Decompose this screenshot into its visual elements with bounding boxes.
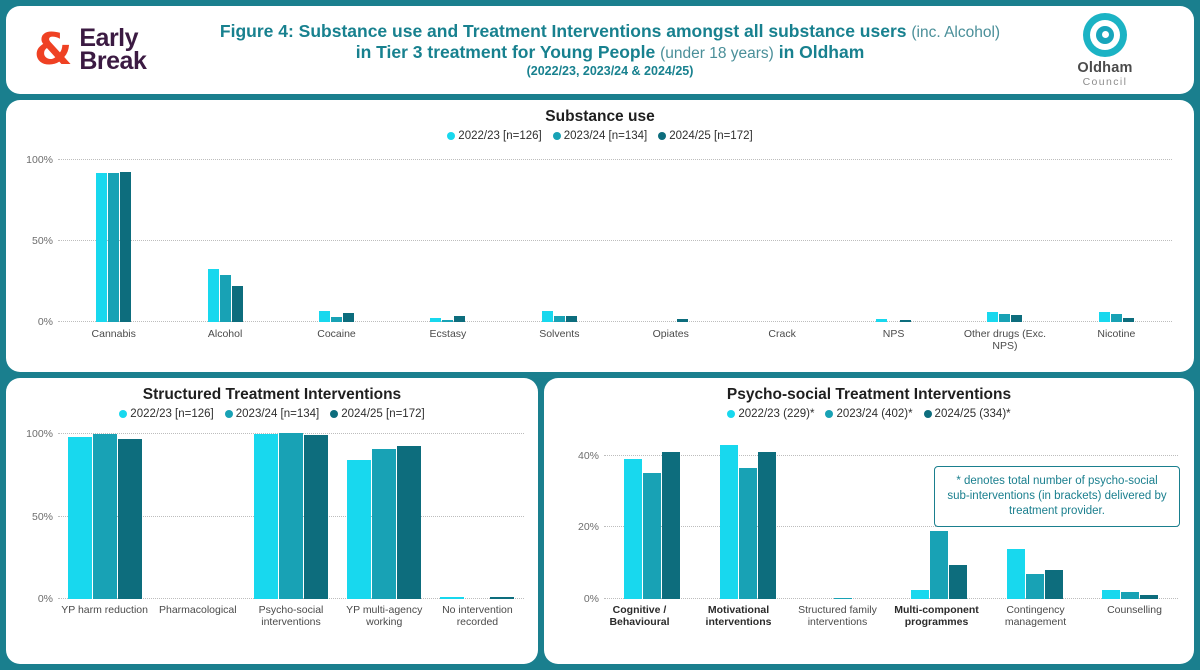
bar-groups [58,160,1172,322]
x-axis-tick-label: Pharmacological [151,604,244,628]
legend-item-0: 2022/23 (229)* [727,408,814,420]
xaxis-labels-psychosocial: Cognitive / BehaviouralMotivational inte… [590,604,1184,628]
x-axis-tick-label: YP harm reduction [58,604,151,628]
early-break-wordmark: Early Break [79,27,146,73]
bar [1026,574,1044,599]
plot-area: 0%50%100% [58,160,1172,322]
plot-area: 0%50%100% [58,434,524,599]
xaxis-labels-structured: YP harm reductionPharmacologicalPsycho-s… [58,604,524,628]
y-axis-tick-label: 0% [38,593,53,605]
bar-group [1061,160,1172,322]
bar-group [700,434,796,599]
chart-title-psychosocial: Psycho-social Treatment Interventions [544,378,1194,404]
legend-psychosocial: 2022/23 (229)*2023/24 (402)*2024/25 (334… [544,408,1194,420]
bar [1102,590,1120,599]
legend-substance-use: 2022/23 [n=126]2023/24 [n=134]2024/25 [n… [6,130,1194,142]
x-axis-tick-label: Crack [726,328,837,352]
y-axis-tick-label: 20% [578,521,599,533]
x-axis-tick-label: Structured family interventions [788,604,887,628]
bar [319,311,330,322]
bar [949,565,967,599]
x-axis-tick-label: Nicotine [1061,328,1172,352]
ampersand-icon: & [34,30,72,70]
bar [876,319,887,322]
legend-dot-icon [924,410,932,418]
bar [911,590,929,599]
chart-substance-use: 0%50%100% [58,160,1172,322]
legend-dot-icon [727,410,735,418]
bar [232,286,243,322]
page-title: Figure 4: Substance use and Treatment In… [190,21,1030,79]
bar [1123,318,1134,322]
bar [1111,314,1122,322]
oldham-council-logo: Oldham Council [1030,13,1180,88]
bar-groups [58,434,524,599]
legend-label: 2022/23 [n=126] [458,130,541,142]
legend-label: 2023/24 [n=134] [564,130,647,142]
chart-structured: 0%50%100% [58,434,524,599]
legend-label: 2024/25 [n=172] [341,408,424,420]
x-axis-tick-label: Alcohol [169,328,280,352]
bar [68,437,92,599]
y-axis-tick-label: 100% [26,428,53,440]
title-line-2-bold-b: in Oldham [779,42,865,62]
bar-group [838,160,949,322]
legend-label: 2022/23 (229)* [738,408,814,420]
y-axis-tick-label: 0% [38,316,53,328]
legend-label: 2022/23 [n=126] [130,408,213,420]
bar [758,452,776,599]
legend-item-0: 2022/23 [n=126] [119,408,213,420]
legend-dot-icon [553,132,561,140]
panel-substance-use: Substance use 2022/23 [n=126]2023/24 [n=… [6,100,1194,372]
title-line-1-bold: Figure 4: Substance use and Treatment In… [220,21,907,41]
x-axis-tick-label: Cannabis [58,328,169,352]
legend-dot-icon [658,132,666,140]
bar-group [726,160,837,322]
bar [624,459,642,599]
x-axis-tick-label: YP multi-agency working [338,604,431,628]
xaxis-labels-substance-use: CannabisAlcoholCocaineEcstasySolventsOpi… [58,328,1172,352]
bar [347,460,371,599]
legend-item-0: 2022/23 [n=126] [447,130,541,142]
legend-dot-icon [825,410,833,418]
title-line-1-soft: (inc. Alcohol) [911,24,1000,41]
legend-item-2: 2024/25 [n=172] [658,130,752,142]
y-axis-tick-label: 50% [32,511,53,523]
legend-dot-icon [119,410,127,418]
bar [987,312,998,322]
panel-structured-interventions: Structured Treatment Interventions 2022/… [6,378,538,664]
bar-group [615,160,726,322]
early-break-logo: & Early Break [20,27,190,73]
annotation-note: * denotes total number of psycho-social … [934,466,1180,527]
legend-item-1: 2023/24 [n=134] [225,408,319,420]
bar-group [169,160,280,322]
bar-group [244,434,337,599]
legend-item-2: 2024/25 [n=172] [330,408,424,420]
bar [999,314,1010,322]
bar [96,173,107,322]
bar-group [949,160,1060,322]
bar [120,172,131,322]
x-axis-tick-label: Cognitive / Behavioural [590,604,689,628]
bar [93,434,117,599]
bottom-panels-row: Structured Treatment Interventions 2022/… [6,378,1194,664]
bar-group [58,160,169,322]
bar [254,434,278,599]
bar [454,316,465,322]
bar-group [604,434,700,599]
y-axis-tick-label: 50% [32,235,53,247]
bar [834,598,852,599]
x-axis-tick-label: Multi-component programmes [887,604,986,628]
y-axis-tick-label: 40% [578,450,599,462]
bar [900,320,911,322]
x-axis-tick-label: Solvents [504,328,615,352]
bar [677,319,688,322]
bar [430,318,441,322]
bar [1045,570,1063,599]
bar [279,433,303,599]
x-axis-tick-label: Motivational interventions [689,604,788,628]
bar [643,473,661,599]
bar-group [58,434,151,599]
title-line-3: (2022/23, 2023/24 & 2024/25) [190,64,1030,79]
legend-item-2: 2024/25 (334)* [924,408,1011,420]
oldham-subtitle: Council [1083,76,1128,88]
x-axis-tick-label: Cocaine [281,328,392,352]
title-line-2-soft: (under 18 years) [660,45,774,62]
x-axis-tick-label: NPS [838,328,949,352]
title-line-1: Figure 4: Substance use and Treatment In… [190,21,1030,42]
chart-title-structured: Structured Treatment Interventions [6,378,538,404]
title-line-2-bold-a: in Tier 3 treatment for Young People [356,42,656,62]
bar [118,439,142,599]
bar [442,320,453,322]
bar [566,316,577,322]
title-line-2: in Tier 3 treatment for Young People (un… [190,42,1030,63]
legend-item-1: 2023/24 (402)* [825,408,912,420]
bar [1099,312,1110,322]
legend-structured: 2022/23 [n=126]2023/24 [n=134]2024/25 [n… [6,408,538,420]
bar [397,446,421,599]
bar-group [431,434,524,599]
bar [930,531,948,599]
bar [1011,315,1022,322]
y-axis-tick-label: 100% [26,154,53,166]
bar [220,275,231,322]
bar-group [392,160,503,322]
x-axis-tick-label: Counselling [1085,604,1184,628]
legend-dot-icon [330,410,338,418]
bar [108,173,119,322]
legend-label: 2023/24 (402)* [836,408,912,420]
bar [343,313,354,322]
bar [304,435,328,599]
bar [372,449,396,599]
bar [739,468,757,599]
legend-label: 2024/25 [n=172] [669,130,752,142]
x-axis-tick-label: Psycho-social interventions [244,604,337,628]
bar-group [504,160,615,322]
bar [554,316,565,322]
legend-item-1: 2023/24 [n=134] [553,130,647,142]
oldham-name: Oldham [1077,60,1132,76]
infographic-page: & Early Break Figure 4: Substance use an… [0,0,1200,670]
bar [331,317,342,322]
bar [662,452,680,599]
legend-dot-icon [225,410,233,418]
x-axis-tick-label: Ecstasy [392,328,503,352]
x-axis-tick-label: Other drugs (Exc. NPS) [949,328,1060,352]
bar-group [281,160,392,322]
legend-dot-icon [447,132,455,140]
x-axis-tick-label: Contingency management [986,604,1085,628]
bar [1121,592,1139,599]
early-break-line2: Break [79,50,146,73]
bar [490,597,514,599]
bar [720,445,738,599]
chart-title-substance-use: Substance use [6,100,1194,126]
bar [542,311,553,322]
bar-group [795,434,891,599]
panel-psychosocial-interventions: Psycho-social Treatment Interventions 20… [544,378,1194,664]
bar [440,597,464,599]
x-axis-tick-label: No intervention recorded [431,604,524,628]
bar-group [151,434,244,599]
bar [1007,549,1025,599]
oldham-circle-icon [1083,13,1127,57]
bar-group [338,434,431,599]
bar [1140,595,1158,599]
legend-label: 2024/25 (334)* [935,408,1011,420]
x-axis-tick-label: Opiates [615,328,726,352]
header-banner: & Early Break Figure 4: Substance use an… [6,6,1194,94]
bar [208,269,219,322]
legend-label: 2023/24 [n=134] [236,408,319,420]
